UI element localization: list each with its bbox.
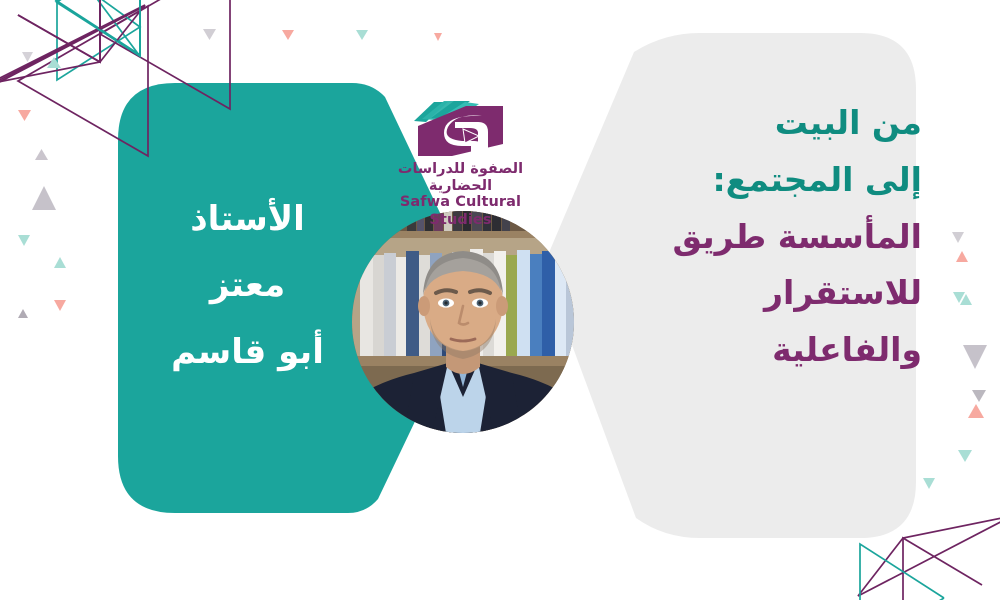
speaker-name-line-2: معتز <box>140 252 355 318</box>
title-line-2: إلى المجتمع: <box>592 152 922 209</box>
speaker-name-line-1: الأستاذ <box>140 186 355 252</box>
title-line-5: والفاعلية <box>592 322 922 379</box>
title-line-3: المأسسة طريق <box>592 209 922 266</box>
speaker-name-line-3: أبو قاسم <box>140 319 355 385</box>
poster-canvas: الصفوة للدراسات الحضارية Safwa Cultural … <box>0 0 1000 600</box>
event-title: من البيت إلى المجتمع: المأسسة طريق للاست… <box>592 95 922 379</box>
speaker-portrait <box>352 211 574 433</box>
title-line-1: من البيت <box>592 95 922 152</box>
organization-logo: الصفوة للدراسات الحضارية Safwa Cultural … <box>378 100 543 200</box>
purple-outline-triangle-topleft <box>18 0 230 156</box>
logo-name-arabic: الصفوة للدراسات الحضارية <box>378 161 543 194</box>
speaker-name: الأستاذ معتز أبو قاسم <box>140 186 355 385</box>
book-logo-icon <box>378 100 543 160</box>
teal-outline-triangle-topleft <box>56 0 140 80</box>
logo-name-english: Safwa Cultural Studies <box>378 194 543 229</box>
title-line-4: للاستقرار <box>592 265 922 322</box>
